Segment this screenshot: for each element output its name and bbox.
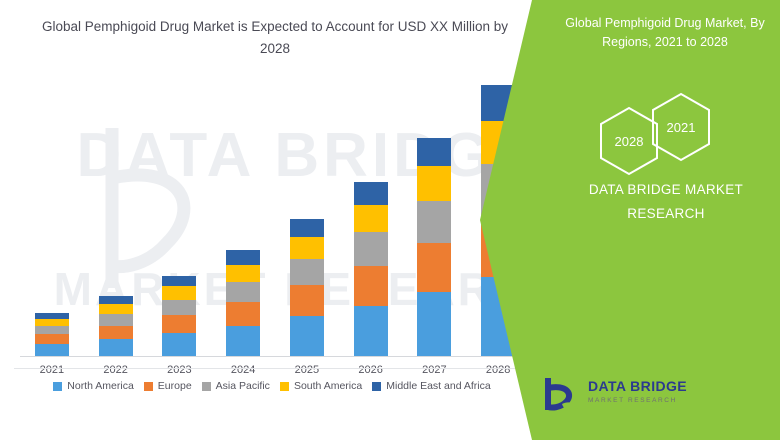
bar-group <box>20 80 530 356</box>
legend-item[interactable]: Europe <box>144 380 192 392</box>
legend-swatch <box>144 382 153 391</box>
bar-segment <box>35 344 69 356</box>
bar-column <box>354 182 388 356</box>
bar-segment <box>417 138 451 167</box>
legend-item[interactable]: North America <box>53 380 134 392</box>
bar-segment <box>226 282 260 302</box>
bar-column <box>290 219 324 356</box>
bar-column <box>162 276 196 356</box>
bar-segment <box>226 265 260 282</box>
chart-plot-area <box>20 80 530 356</box>
chart-legend: North AmericaEuropeAsia PacificSouth Ame… <box>14 375 530 397</box>
bar-segment <box>99 296 133 304</box>
bar-segment <box>417 166 451 201</box>
panel-brand-line-1: DATA BRIDGE MARKET <box>552 182 780 197</box>
panel-title: Global Pemphigoid Drug Market, By Region… <box>560 14 770 52</box>
bar-segment <box>417 201 451 243</box>
bar-segment <box>35 334 69 344</box>
bar-segment <box>290 285 324 316</box>
bar-segment <box>290 219 324 237</box>
bar-segment <box>290 316 324 356</box>
legend-item[interactable]: Middle East and Africa <box>372 380 490 392</box>
bar-segment <box>226 326 260 356</box>
legend-swatch <box>202 382 211 391</box>
bar-segment <box>417 292 451 356</box>
logo-name: DATA BRIDGE <box>588 378 687 394</box>
bar-segment <box>99 314 133 326</box>
bar-segment <box>99 304 133 314</box>
bar-segment <box>162 315 196 333</box>
legend-swatch <box>280 382 289 391</box>
logo-text: DATA BRIDGE MARKET RESEARCH <box>588 378 687 404</box>
bar-segment <box>354 306 388 356</box>
bar-segment <box>162 276 196 287</box>
screenshot-root: Global Pemphigoid Drug Market is Expecte… <box>0 0 780 440</box>
panel-brand-line-2: RESEARCH <box>552 206 780 221</box>
bar-segment <box>354 182 388 205</box>
logo-mark-icon <box>540 374 580 414</box>
bar-segment <box>162 333 196 356</box>
bar-segment <box>290 237 324 259</box>
bar-segment <box>354 232 388 266</box>
bar-segment <box>354 266 388 306</box>
logo-tagline: MARKET RESEARCH <box>588 397 687 404</box>
x-axis-line <box>20 356 530 357</box>
legend-label: Middle East and Africa <box>386 380 490 392</box>
bar-segment <box>162 286 196 299</box>
bar-segment <box>226 250 260 264</box>
legend-label: Europe <box>158 380 192 392</box>
hexagon-2021: 2021 <box>650 92 712 162</box>
bar-column <box>226 250 260 356</box>
bar-segment <box>35 326 69 334</box>
legend-item[interactable]: Asia Pacific <box>202 380 270 392</box>
hexagon-badges: 2028 2021 <box>588 92 768 164</box>
bar-segment <box>35 319 69 326</box>
page-title: Global Pemphigoid Drug Market is Expecte… <box>40 16 510 60</box>
bar-segment <box>99 326 133 339</box>
bar-segment <box>417 243 451 292</box>
bar-segment <box>354 205 388 233</box>
legend-swatch <box>372 382 381 391</box>
bar-column <box>417 138 451 356</box>
bar-column <box>35 313 69 356</box>
legend-label: Asia Pacific <box>216 380 270 392</box>
bar-segment <box>226 302 260 326</box>
bar-column <box>99 296 133 356</box>
legend-swatch <box>53 382 62 391</box>
legend-label: South America <box>294 380 362 392</box>
bar-segment <box>162 300 196 316</box>
legend-item[interactable]: South America <box>280 380 362 392</box>
legend-divider <box>14 368 530 369</box>
bar-segment <box>290 259 324 285</box>
brand-logo: DATA BRIDGE MARKET RESEARCH <box>540 372 740 420</box>
bar-segment <box>99 339 133 356</box>
hexagon-2021-label: 2021 <box>650 92 712 162</box>
legend-label: North America <box>67 380 134 392</box>
